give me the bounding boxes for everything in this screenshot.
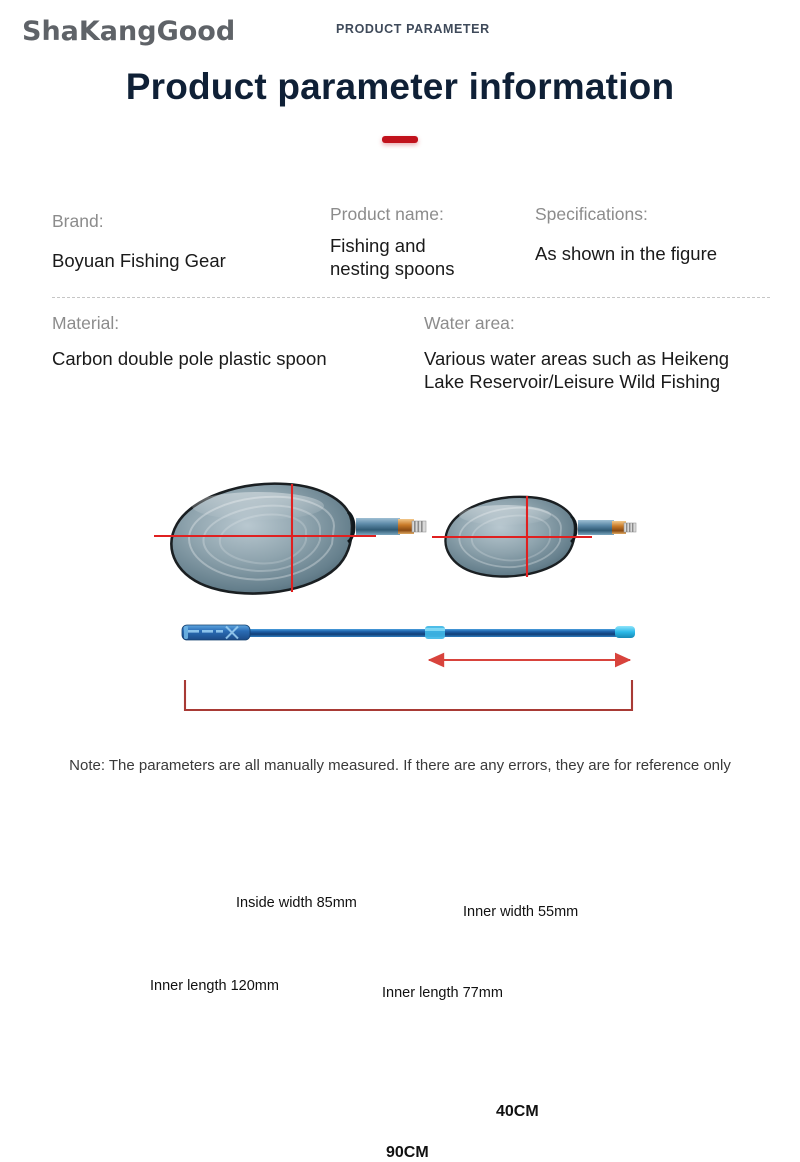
pole-measurements [185, 660, 632, 710]
big-spoon-illustration [154, 484, 426, 594]
spec-label: Brand: [52, 212, 226, 231]
pole-illustration [182, 625, 635, 640]
spec-cell-specifications: Specifications: As shown in the figure [535, 205, 717, 266]
footer-note: Note: The parameters are all manually me… [0, 757, 800, 774]
spec-cell-material: Material: Carbon double pole plastic spo… [52, 314, 327, 371]
spec-value: Boyuan Fishing Gear [52, 250, 226, 273]
spec-cell-water-area: Water area: Various water areas such as … [424, 314, 729, 393]
spec-cell-brand: Brand: Boyuan Fishing Gear [52, 212, 226, 273]
spec-value: Carbon double pole plastic spoon [52, 348, 327, 371]
dim-label-small-width: Inner width 55mm [463, 904, 578, 920]
dim-label-pole-section: 40CM [496, 1103, 539, 1121]
spec-table: Brand: Boyuan Fishing Gear Product name:… [0, 196, 800, 400]
spec-label: Product name: [330, 205, 454, 224]
dim-label-big-width: Inside width 85mm [236, 895, 357, 911]
dim-label-big-length: Inner length 120mm [150, 978, 279, 994]
spec-row: Brand: Boyuan Fishing Gear Product name:… [0, 196, 800, 298]
spec-label: Water area: [424, 314, 729, 333]
spec-value: Various water areas such as Heikeng Lake… [424, 348, 729, 393]
title-accent-rule [382, 136, 418, 143]
spec-row: Material: Carbon double pole plastic spo… [0, 298, 800, 400]
page-title: Product parameter information [0, 66, 800, 108]
spec-cell-product-name: Product name: Fishing and nesting spoons [330, 205, 454, 280]
spec-label: Material: [52, 314, 327, 333]
spec-value: As shown in the figure [535, 243, 717, 266]
small-spoon-illustration [432, 496, 636, 577]
product-diagram: Inside width 85mm Inner length 120mm Inn… [0, 440, 800, 740]
dim-label-small-length: Inner length 77mm [382, 985, 503, 1001]
page-eyebrow: PRODUCT PARAMETER [336, 22, 490, 36]
dim-label-pole-total: 90CM [386, 1144, 429, 1162]
spec-label: Specifications: [535, 205, 717, 224]
brand-watermark: ShaKangGood [22, 16, 235, 47]
spec-value: Fishing and nesting spoons [330, 235, 454, 280]
